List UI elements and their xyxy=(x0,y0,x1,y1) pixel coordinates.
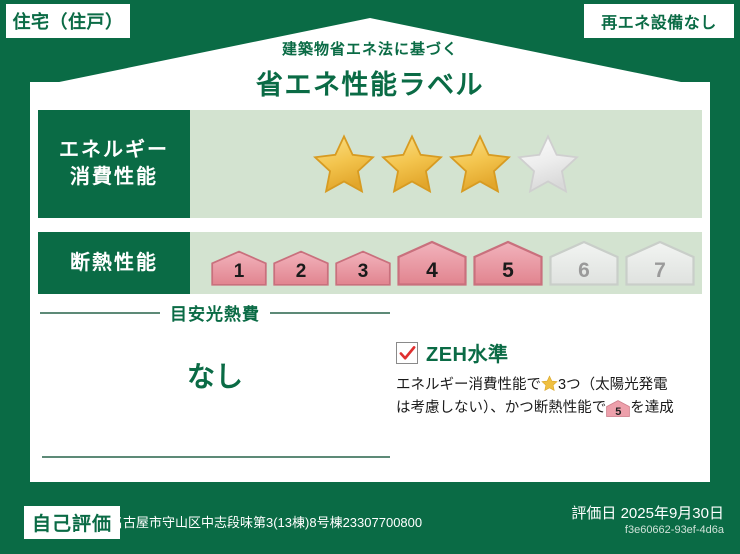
insulation-level-1: 1 xyxy=(211,250,267,286)
star-filled-icon xyxy=(449,133,511,195)
title-block: 建築物省エネ法に基づく 省エネ性能ラベル xyxy=(0,38,740,102)
energy-performance-body xyxy=(190,110,702,218)
evaluation-date: 評価日 2025年9月30日 xyxy=(571,502,724,523)
insulation-level-value: 4 xyxy=(426,259,438,283)
insulation-level-4: 4 xyxy=(397,240,467,286)
insulation-level-2: 2 xyxy=(273,250,329,286)
building-type-tag-label: 住宅（住戸） xyxy=(13,8,124,34)
insulation-level-value: 1 xyxy=(234,261,245,283)
insulation-performance-label-box: 断熱性能 xyxy=(38,232,190,294)
evaluation-date-value: 2025年9月30日 xyxy=(621,505,724,522)
inline-star-icon xyxy=(541,375,558,392)
zeh-desc-part2: 3つ（太陽光発電 xyxy=(558,377,668,393)
insulation-level-value: 7 xyxy=(654,259,666,283)
star-filled-icon xyxy=(313,133,375,195)
check-mark-icon xyxy=(399,345,416,362)
energy-performance-label: 住宅（住戸） 再エネ設備なし 建築物省エネ法に基づく 省エネ性能ラベル エネルギ… xyxy=(0,0,740,554)
insulation-level-7: 7 xyxy=(625,240,695,286)
insulation-performance-row: 断熱性能 1234567 xyxy=(38,232,702,294)
energy-performance-row: エネルギー 消費性能 xyxy=(38,110,702,218)
insulation-level-3: 3 xyxy=(335,250,391,286)
zeh-desc-part1: エネルギー消費性能で xyxy=(396,377,541,393)
property-address: 名古屋市守山区中志段味第3(13棟)8号棟23307700800 xyxy=(110,512,422,531)
inline-house-badge-value: 5 xyxy=(615,406,621,418)
insulation-level-5: 5 xyxy=(473,240,543,286)
insulation-level-6: 6 xyxy=(549,240,619,286)
utility-cost-heading-label: 目安光熱費 xyxy=(170,300,260,325)
self-evaluation-badge: 自己評価 xyxy=(24,506,120,539)
zeh-title: ZEH水準 xyxy=(426,338,509,367)
insulation-level-scale: 1234567 xyxy=(197,240,695,286)
insulation-label: 断熱性能 xyxy=(70,250,158,277)
heading-rule-right xyxy=(270,312,390,314)
building-type-tag: 住宅（住戸） xyxy=(6,4,130,38)
zeh-desc-part4: を達成 xyxy=(630,400,674,416)
zeh-standard-block: ZEH水準 エネルギー消費性能で 3つ（太陽光発電 は考慮しない）、かつ断熱性能… xyxy=(396,338,696,421)
insulation-performance-body: 1234567 xyxy=(190,232,702,294)
insulation-level-value: 5 xyxy=(502,259,514,283)
document-id: f3e60662-93ef-4d6a xyxy=(625,524,724,536)
insulation-level-value: 3 xyxy=(358,261,369,283)
star-empty-icon xyxy=(517,133,579,195)
star-filled-icon xyxy=(381,133,443,195)
energy-label-line2: 消費性能 xyxy=(70,164,158,191)
checkbox-checked-icon xyxy=(396,342,418,364)
utility-cost-heading: 目安光熱費 xyxy=(40,300,390,325)
heading-rule-left xyxy=(40,312,160,314)
insulation-level-value: 6 xyxy=(578,259,590,283)
evaluation-date-label: 評価日 xyxy=(571,505,616,522)
utility-cost-bottom-rule xyxy=(42,456,390,458)
renewable-equipment-tag: 再エネ設備なし xyxy=(584,4,734,38)
zeh-desc-part3: は考慮しない）、かつ断熱性能で xyxy=(396,400,606,416)
renewable-equipment-tag-label: 再エネ設備なし xyxy=(601,9,717,33)
energy-performance-label-box: エネルギー 消費性能 xyxy=(38,110,190,218)
page-title: 省エネ性能ラベル xyxy=(0,63,740,102)
utility-cost-value: なし xyxy=(40,355,390,395)
label-footer: 自己評価 名古屋市守山区中志段味第3(13棟)8号棟23307700800 評価… xyxy=(0,488,740,554)
insulation-level-value: 2 xyxy=(296,261,307,283)
zeh-heading: ZEH水準 xyxy=(396,338,696,367)
star-rating xyxy=(313,133,579,195)
zeh-description: エネルギー消費性能で 3つ（太陽光発電 は考慮しない）、かつ断熱性能で 5 を達… xyxy=(396,374,696,421)
label-subtitle: 建築物省エネ法に基づく xyxy=(0,38,740,59)
energy-label-line1: エネルギー xyxy=(59,137,169,164)
inline-house-badge-icon: 5 xyxy=(606,400,630,417)
